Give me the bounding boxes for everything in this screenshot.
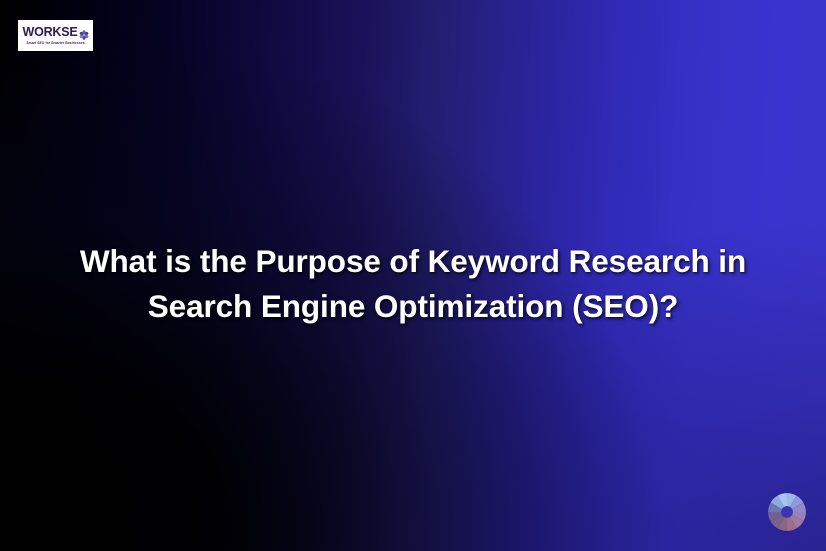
logo-wordmark-row: WORKSE	[22, 26, 88, 39]
segmented-color-wheel-icon[interactable]	[766, 491, 808, 533]
logo-tagline: Smart SEO for Smarter Businesses	[26, 41, 84, 45]
page-title-line-2: Search Engine Optimization (SEO)?	[148, 288, 679, 324]
brand-logo[interactable]: WORKSE	[18, 20, 93, 51]
logo-wordmark-text: WORKSE	[22, 26, 77, 39]
slide-canvas: WORKSE	[0, 0, 826, 551]
page-title: What is the Purpose of Keyword Research …	[0, 239, 826, 329]
flower-pinwheel-icon	[79, 28, 89, 38]
page-title-line-1: What is the Purpose of Keyword Research …	[80, 243, 746, 279]
